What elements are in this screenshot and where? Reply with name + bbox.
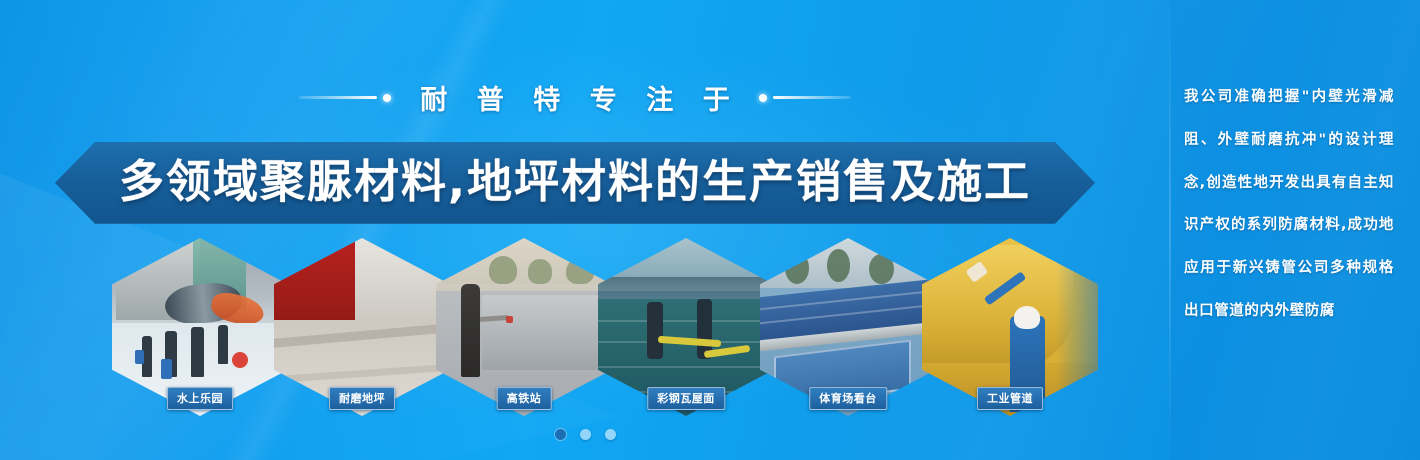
- carousel-dot-1[interactable]: [555, 429, 566, 440]
- headline-wrap: 多领域聚脲材料,地坪材料的生产销售及施工: [0, 142, 1150, 224]
- promotional-banner: 耐 普 特 专 注 于 多领域聚脲材料,地坪材料的生产销售及施工: [0, 0, 1420, 460]
- banner-subtitle: 耐 普 特 专 注 于: [409, 78, 741, 117]
- subtitle-row: 耐 普 特 专 注 于: [0, 78, 1150, 117]
- company-description: 我公司准确把握"内壁光滑减阻、外壁耐磨抗冲"的设计理念,创造性地开发出具有自主知…: [1184, 76, 1394, 333]
- banner-headline: 多领域聚脲材料,地坪材料的生产销售及施工: [119, 156, 1031, 208]
- gallery-item-wear-resistant-floor[interactable]: 耐磨地坪: [274, 238, 450, 416]
- gallery-caption: 工业管道: [977, 387, 1043, 410]
- gallery-item-industrial-pipeline[interactable]: 工业管道: [922, 238, 1098, 416]
- decorative-bar: [773, 96, 851, 99]
- gallery-item-high-speed-rail-station[interactable]: 高铁站: [436, 238, 612, 416]
- decorative-dot: [759, 94, 767, 102]
- right-panel-divider: [1169, 0, 1171, 460]
- gallery-caption: 水上乐园: [167, 387, 233, 410]
- gallery-caption: 彩钢瓦屋面: [647, 387, 725, 410]
- carousel-dot-2[interactable]: [580, 429, 591, 440]
- decorative-dot: [383, 94, 391, 102]
- gallery-item-color-steel-roof[interactable]: 彩钢瓦屋面: [598, 238, 774, 416]
- gallery-caption: 体育场看台: [809, 387, 887, 410]
- carousel-dots: [0, 429, 1170, 440]
- gallery-item-stadium-grandstand[interactable]: 体育场看台: [760, 238, 936, 416]
- decorative-bar: [299, 96, 377, 99]
- gallery-caption: 耐磨地坪: [329, 387, 395, 410]
- decorative-line-left: [299, 94, 391, 102]
- decorative-line-right: [759, 94, 851, 102]
- headline-plate: 多领域聚脲材料,地坪材料的生产销售及施工: [55, 142, 1095, 224]
- gallery-caption: 高铁站: [497, 387, 552, 410]
- carousel-dot-3[interactable]: [605, 429, 616, 440]
- gallery-item-water-park[interactable]: 水上乐园: [112, 238, 288, 416]
- hexagon-gallery: 水上乐园 耐磨地坪: [112, 238, 1122, 418]
